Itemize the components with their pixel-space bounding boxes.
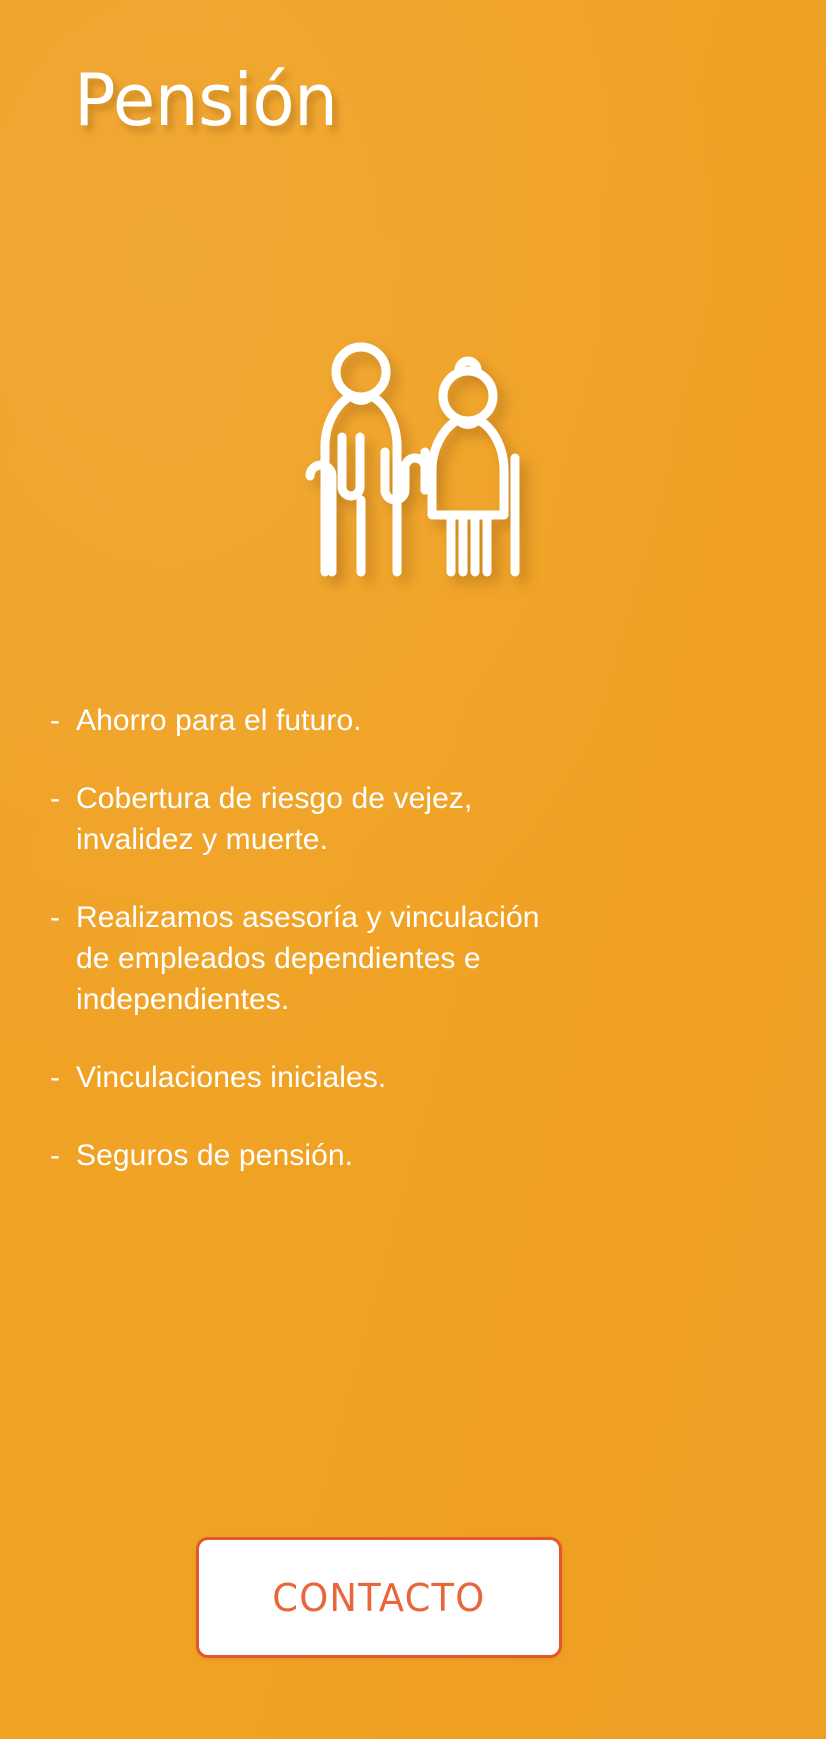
list-item-label: Ahorro para el futuro. [76,700,776,741]
right-figure-head [443,371,493,421]
elderly-couple-icon [0,330,826,600]
pension-service-card: Pensión [0,0,826,1739]
list-item: - Cobertura de riesgo de vejez, invalide… [50,778,776,860]
list-item-label: Vinculaciones iniciales. [76,1057,776,1098]
elderly-couple-icon-svg [295,340,531,590]
bullet-dash: - [50,1135,76,1176]
contact-button-label: CONTACTO [272,1576,485,1620]
contact-button[interactable]: CONTACTO [196,1537,562,1658]
list-item: - Vinculaciones iniciales. [50,1057,776,1098]
joined-hands [385,452,425,500]
list-item-label: Realizamos asesoría y vinculación de emp… [76,897,776,1020]
list-item-label: Cobertura de riesgo de vejez, invalidez … [76,778,776,860]
right-figure-body-left [432,468,445,515]
bullet-dash: - [50,1057,76,1098]
list-item-label: Seguros de pensión. [76,1135,776,1176]
bullet-dash: - [50,897,76,938]
right-figure-body [432,420,504,515]
list-item: - Ahorro para el futuro. [50,700,776,741]
bullet-dash: - [50,778,76,819]
left-figure-left-arm [342,437,360,496]
list-item: - Realizamos asesoría y vinculación de e… [50,897,776,1020]
page-title: Pensión [74,64,338,136]
list-item: - Seguros de pensión. [50,1135,776,1176]
features-list: - Ahorro para el futuro. - Cobertura de … [50,700,776,1176]
bullet-dash: - [50,700,76,741]
left-figure-head [336,347,386,397]
